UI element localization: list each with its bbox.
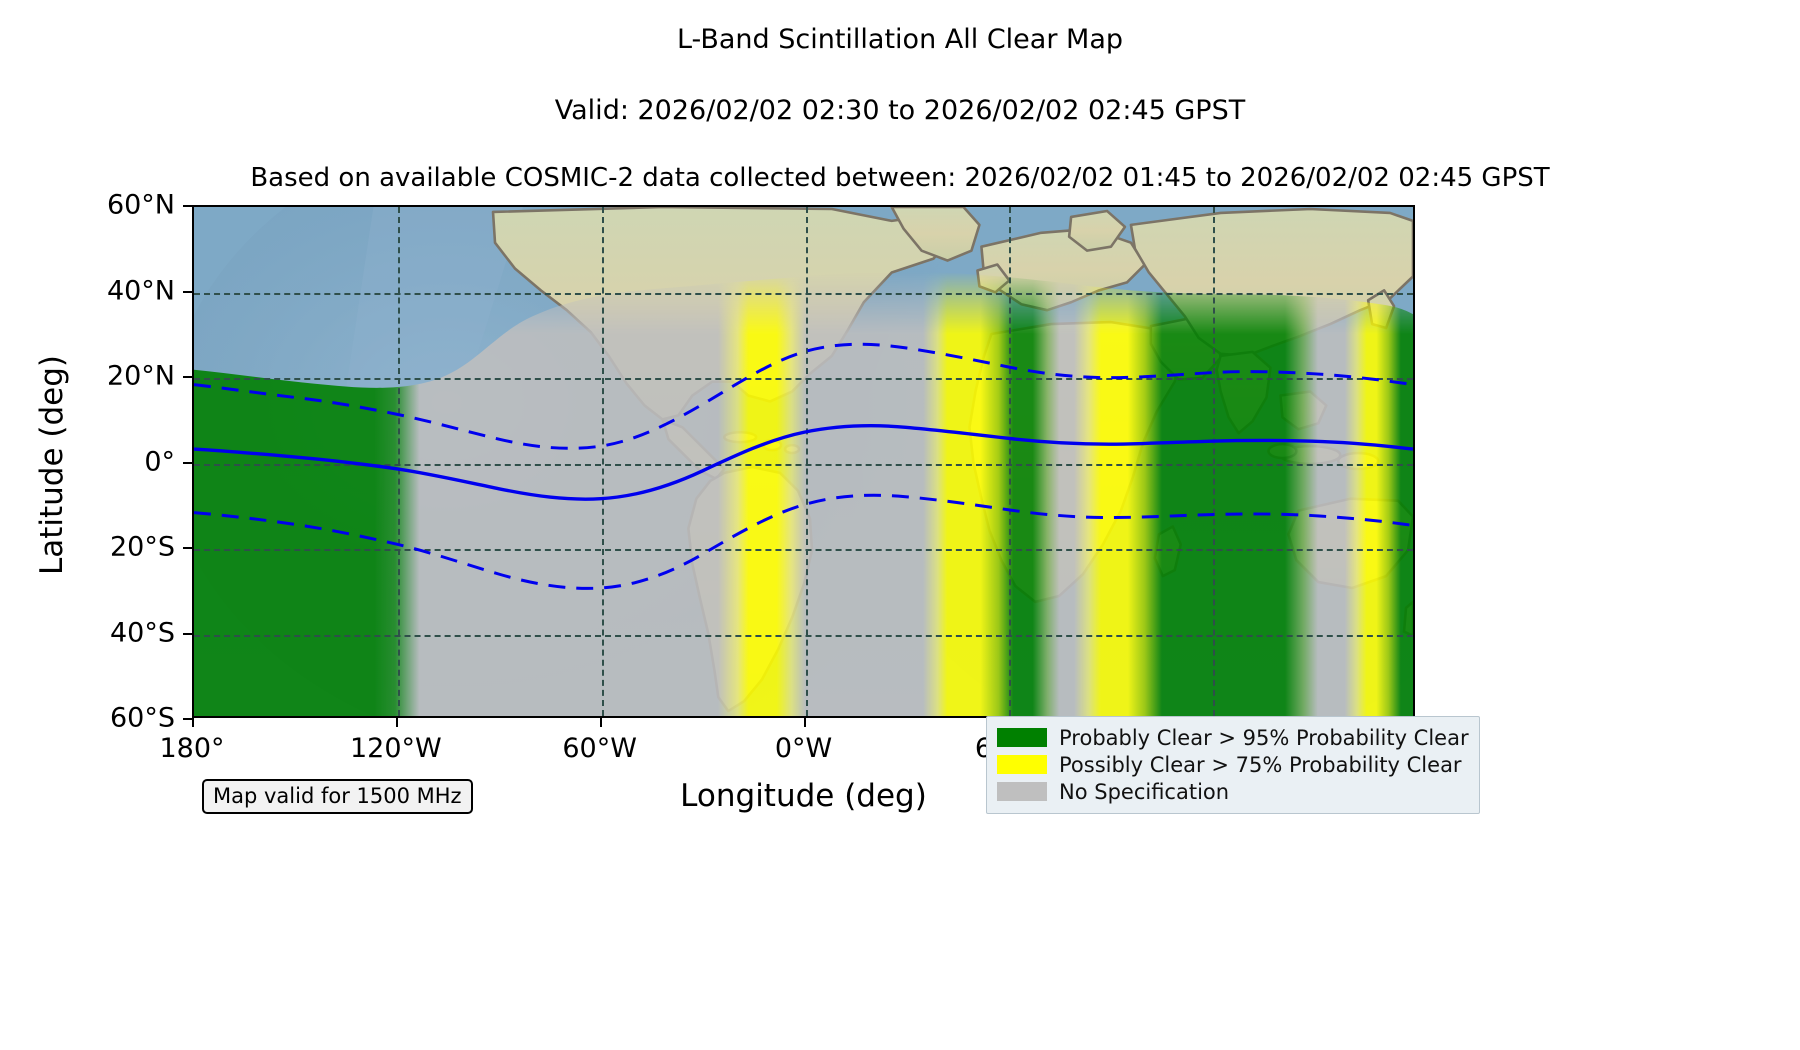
- y-tick-label-0: 60°N: [107, 190, 175, 221]
- frequency-annotation: Map valid for 1500 MHz: [202, 779, 473, 814]
- x-tick-label-0: 180°: [159, 733, 224, 764]
- x-tick-1: [396, 718, 398, 727]
- y-axis-label: Latitude (deg): [30, 250, 74, 680]
- y-tick-6: [183, 718, 192, 720]
- legend-swatch-probably-clear: [997, 728, 1047, 747]
- chart-subtitle-valid: Valid: 2026/02/02 02:30 to 2026/02/02 02…: [0, 95, 1800, 126]
- y-tick-5: [183, 633, 192, 635]
- y-tick-label-5: 40°S: [110, 617, 175, 648]
- x-tick-3: [804, 718, 806, 727]
- y-tick-label-6: 60°S: [110, 703, 175, 734]
- magnetic-equator-curves: [194, 207, 1413, 716]
- legend-label-no-specification: No Specification: [1059, 780, 1229, 804]
- y-tick-label-4: 20°S: [110, 532, 175, 563]
- y-tick-label-2: 20°N: [107, 361, 175, 392]
- map-clip: [194, 207, 1413, 716]
- figure-root: L-Band Scintillation All Clear Map Valid…: [0, 0, 1800, 1050]
- frequency-annotation-text: Map valid for 1500 MHz: [213, 784, 462, 808]
- magnetic-equator-line: [194, 426, 1413, 499]
- legend-item-possibly-clear: Possibly Clear > 75% Probability Clear: [997, 751, 1469, 778]
- x-tick-label-2: 60°W: [562, 733, 637, 764]
- x-tick-0: [192, 718, 194, 727]
- y-tick-1: [183, 291, 192, 293]
- x-tick-label-1: 120°W: [350, 733, 442, 764]
- y-tick-4: [183, 547, 192, 549]
- legend-item-no-specification: No Specification: [997, 778, 1469, 805]
- chart-subtitle-source: Based on available COSMIC-2 data collect…: [0, 163, 1800, 193]
- x-tick-2: [600, 718, 602, 727]
- x-tick-label-3: 0°W: [775, 733, 832, 764]
- legend: Probably Clear > 95% Probability Clear P…: [986, 716, 1480, 814]
- legend-swatch-no-specification: [997, 782, 1047, 801]
- y-tick-3: [183, 462, 192, 464]
- map-plot-area: [192, 205, 1415, 718]
- y-tick-label-3: 0°: [144, 446, 175, 477]
- chart-title: L-Band Scintillation All Clear Map: [0, 24, 1800, 55]
- legend-label-possibly-clear: Possibly Clear > 75% Probability Clear: [1059, 753, 1462, 777]
- legend-swatch-possibly-clear: [997, 755, 1047, 774]
- legend-item-probably-clear: Probably Clear > 95% Probability Clear: [997, 724, 1469, 751]
- y-tick-label-1: 40°N: [107, 275, 175, 306]
- boundary-south-line: [194, 495, 1413, 588]
- y-tick-0: [183, 205, 192, 207]
- y-tick-2: [183, 376, 192, 378]
- legend-label-probably-clear: Probably Clear > 95% Probability Clear: [1059, 726, 1469, 750]
